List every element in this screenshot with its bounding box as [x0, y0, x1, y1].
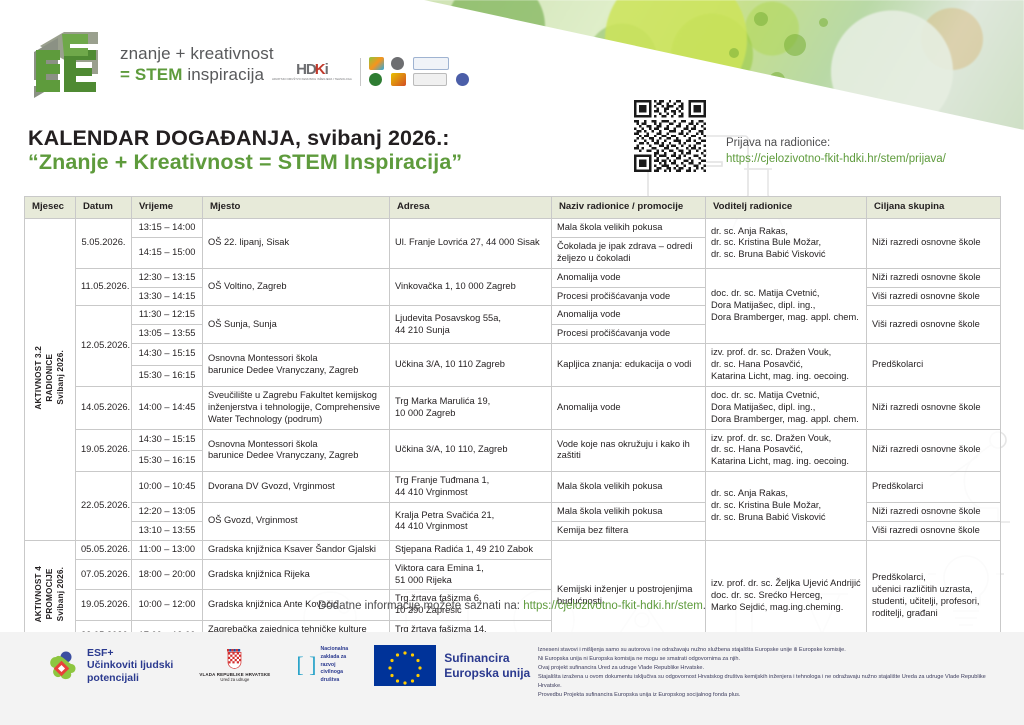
hdki-wordmark: HDKi	[272, 61, 352, 78]
cell-naziv: Kemija bez filtera	[552, 521, 706, 540]
cell-naziv: Mala škola velikih pokusa	[552, 219, 706, 238]
table-row: 19.05.2026.14:30 – 15:15Osnovna Montesso…	[25, 429, 1001, 450]
partner-logo-6	[413, 73, 447, 86]
cell-adresa: Učkina 3/A, 10 110, Zagreb	[390, 429, 552, 472]
stem-logo: znanje + kreativnost = STEM inspiracija	[28, 26, 274, 104]
cell-voditelj: doc. dr. sc. Matija Cvetnić, Dora Matija…	[706, 386, 867, 429]
esf-line-2: Učinkoviti ljudski	[87, 659, 173, 672]
cell-adresa: Trg Marka Marulića 19, 10 000 Zagreb	[390, 386, 552, 429]
cell-ciljana: Predškolarci	[867, 344, 1001, 387]
nacionalna-zaklada-logo: [ ] Nacionalna zaklada za razvoj civilno…	[296, 646, 348, 685]
more-info-url[interactable]: https://cjelozivotno-fkit-hdki.hr/stem	[523, 600, 703, 612]
cell-mjesto: Dvorana DV Gvozd, Vrginmost	[203, 472, 390, 503]
bubble-decor	[754, 12, 768, 26]
partner-logo-7	[456, 73, 469, 86]
eu-flag-icon	[374, 645, 436, 686]
qr-code[interactable]	[634, 100, 706, 172]
cell-vrijeme: 13:10 – 13:55	[132, 521, 203, 540]
col-header-mjesto: Mjesto	[203, 197, 390, 219]
cell-adresa: Viktora cara Emina 1, 51 000 Rijeka	[390, 559, 552, 590]
cell-naziv: Anomalija vode	[552, 306, 706, 325]
cell-naziv: Anomalija vode	[552, 268, 706, 287]
table-header-row: Mjesec Datum Vrijeme Mjesto Adresa Naziv…	[25, 197, 1001, 219]
cell-vrijeme: 12:20 – 13:05	[132, 503, 203, 522]
footer-disclaimer: Izneseni stavovi i mišljenja samo su aut…	[538, 646, 1008, 700]
cell-adresa: Stjepana Radića 1, 49 210 Zabok	[390, 540, 552, 559]
cell-datum: 11.05.2026.	[76, 268, 132, 306]
esf-line-3: potencijali	[87, 672, 173, 685]
hdki-subtitle: HRVATSKO DRUŠTVO KEMIJSKIH INŽENJERA I T…	[272, 78, 352, 82]
more-info-label: Dodatne informacije možete saznati na:	[318, 600, 523, 612]
poster-page: znanje + kreativnost = STEM inspiracija …	[0, 0, 1024, 725]
eu-logo: Sufinancira Europska unija	[374, 645, 530, 686]
cell-naziv: Procesi pročišćavanja vode	[552, 287, 706, 306]
table-body: AKTIVNOST 3.2 RADIONICE Svibanj 2026.5.0…	[25, 219, 1001, 652]
cell-naziv: Anomalija vode	[552, 386, 706, 429]
cell-adresa: Kralja Petra Svačića 21, 44 410 Vrginmos…	[390, 503, 552, 541]
col-header-adresa: Adresa	[390, 197, 552, 219]
cell-ciljana: Niži razredi osnovne škole	[867, 219, 1001, 269]
bubble-decor	[769, 72, 785, 88]
cell-mjesto: Osnovna Montessori škola barunice Dedee …	[203, 344, 390, 387]
partner-logos: HDKi HRVATSKO DRUŠTVO KEMIJSKIH INŽENJER…	[272, 57, 471, 86]
registration-url[interactable]: https://cjelozivotno-fkit-hdki.hr/stem/p…	[726, 151, 946, 167]
cell-naziv: Vode koje nas okružuju i kako ih zaštiti	[552, 429, 706, 472]
cell-vrijeme: 14:00 – 14:45	[132, 386, 203, 429]
table-row: 14:30 – 15:15Osnovna Montessori škola ba…	[25, 344, 1001, 365]
partner-logo-5	[391, 73, 406, 86]
cell-naziv: Kapljica znanja: edukacija o vodi	[552, 344, 706, 387]
esf-flower-icon	[46, 649, 80, 683]
footer-logos: ESF+ Učinkoviti ljudski potencijali	[46, 645, 530, 686]
col-header-vrijeme: Vrijeme	[132, 197, 203, 219]
col-header-voditelj: Voditelj radionice	[706, 197, 867, 219]
cell-mjesto: Gradska knjižnica Rijeka	[203, 559, 390, 590]
activity-group-text: AKTIVNOST 4 PROMOCIJE Svibanj 2026.	[33, 566, 66, 622]
cell-mjesto: OŠ Voltino, Zagreb	[203, 268, 390, 306]
bubble-decor	[819, 18, 828, 27]
disclaimer-line: Ni Europska unija ni Europska komisija n…	[538, 655, 1008, 664]
bubble-decor	[729, 48, 739, 58]
cell-mjesto: OŠ 22. lipanj, Sisak	[203, 219, 390, 269]
partner-logo-grid	[369, 57, 471, 86]
cell-mjesto: OŠ Sunja, Sunja	[203, 306, 390, 344]
table-header: Mjesec Datum Vrijeme Mjesto Adresa Naziv…	[25, 197, 1001, 219]
cell-ciljana: Niži razredi osnovne škole	[867, 268, 1001, 287]
more-info: Dodatne informacije možete saznati na: h…	[0, 600, 1024, 612]
cell-voditelj: doc. dr. sc. Matija Cvetnić, Dora Matija…	[706, 268, 867, 344]
cell-datum: 12.05.2026.	[76, 306, 132, 386]
more-info-suffix: .	[703, 600, 706, 612]
esf-logo: ESF+ Učinkoviti ljudski potencijali	[46, 647, 173, 685]
col-header-ciljana: Ciljana skupina	[867, 197, 1001, 219]
cell-vrijeme: 14:15 – 15:00	[132, 237, 203, 268]
cell-mjesto: Osnovna Montessori škola barunice Dedee …	[203, 429, 390, 472]
disclaimer-line: Izneseni stavovi i mišljenja samo su aut…	[538, 646, 1008, 655]
cell-naziv: Čokolada je ipak zdrava – odredi željezo…	[552, 237, 706, 268]
cell-vrijeme: 14:30 – 15:15	[132, 429, 203, 450]
cell-ciljana: Niži razredi osnovne škole	[867, 386, 1001, 429]
cell-adresa: Učkina 3/A, 10 110 Zagreb	[390, 344, 552, 387]
cell-ciljana: Niži razredi osnovne škole	[867, 503, 1001, 522]
cell-vrijeme: 13:05 – 13:55	[132, 325, 203, 344]
registration-info: Prijava na radionice: https://cjelozivot…	[726, 135, 946, 167]
cell-mjesto: Gradska knjižnica Ksaver Šandor Gjalski	[203, 540, 390, 559]
col-header-datum: Datum	[76, 197, 132, 219]
cell-adresa: Vinkovačka 1, 10 000 Zagreb	[390, 268, 552, 306]
registration-label: Prijava na radionice:	[726, 135, 946, 151]
eu-line-2: Europska unija	[444, 666, 530, 680]
table-row: 11.05.2026.12:30 – 13:15OŠ Voltino, Zagr…	[25, 268, 1001, 287]
esf-line-1: ESF+	[87, 647, 173, 660]
vlada-logo: VLADA REPUBLIKE HRVATSKE Ured za udruge	[199, 649, 270, 682]
cell-ciljana: Predškolarci	[867, 472, 1001, 503]
cell-vrijeme: 12:30 – 13:15	[132, 268, 203, 287]
brackets-icon: [ ]	[296, 654, 316, 676]
cell-vrijeme: 13:15 – 14:00	[132, 219, 203, 238]
partner-logo-spacer	[456, 57, 471, 70]
partner-logo-1	[369, 57, 384, 70]
lab-photo	[424, 0, 1024, 130]
vlada-line-2: Ured za udruge	[199, 677, 270, 682]
eu-text: Sufinancira Europska unija	[444, 651, 530, 680]
page-subtitle: “Znanje + Kreativnost = STEM Inspiracija…	[28, 150, 462, 175]
table-row: AKTIVNOST 3.2 RADIONICE Svibanj 2026.5.0…	[25, 219, 1001, 238]
eu-line-1: Sufinancira	[444, 651, 530, 665]
cell-naziv: Procesi pročišćavanja vode	[552, 325, 706, 344]
logo-equals: =	[120, 65, 130, 84]
cell-vrijeme: 14:30 – 15:15	[132, 344, 203, 365]
cell-datum: 07.05.2026.	[76, 559, 132, 590]
cell-mjesto: OŠ Gvozd, Vrginmost	[203, 503, 390, 541]
table-row: AKTIVNOST 4 PROMOCIJE Svibanj 2026.05.05…	[25, 540, 1001, 559]
partner-logo-4	[369, 73, 382, 86]
stem-cube-icon	[28, 26, 106, 104]
qr-code-icon[interactable]	[634, 100, 706, 172]
cell-ciljana: Viši razredi osnovne škole	[867, 521, 1001, 540]
cell-mjesto: Sveučilište u Zagrebu Fakultet kemijskog…	[203, 386, 390, 429]
cell-voditelj: izv. prof. dr. sc. Dražen Vouk, dr. sc. …	[706, 429, 867, 472]
table-row: 22.05.2026.10:00 – 10:45Dvorana DV Gvozd…	[25, 472, 1001, 503]
disclaimer-line: Ovaj projekt sufinancira Ured za udruge …	[538, 664, 1008, 673]
events-table: Mjesec Datum Vrijeme Mjesto Adresa Naziv…	[24, 196, 1001, 652]
cell-adresa: Ljudevita Posavskog 55a, 44 210 Sunja	[390, 306, 552, 344]
logo-divider	[360, 58, 361, 86]
cell-voditelj: izv. prof. dr. sc. Dražen Vouk, dr. sc. …	[706, 344, 867, 387]
logo-stem-word: STEM	[135, 65, 183, 84]
cell-vrijeme: 11:30 – 12:15	[132, 306, 203, 325]
cell-datum: 05.05.2026.	[76, 540, 132, 559]
croatia-coat-of-arms-icon	[226, 649, 243, 670]
table-row: 14.05.2026.14:00 – 14:45Sveučilište u Za…	[25, 386, 1001, 429]
col-header-naziv: Naziv radionice / promocije	[552, 197, 706, 219]
cell-ciljana: Viši razredi osnovne škole	[867, 306, 1001, 344]
hdki-logo: HDKi HRVATSKO DRUŠTVO KEMIJSKIH INŽENJER…	[272, 61, 352, 82]
cell-vrijeme: 11:00 – 13:00	[132, 540, 203, 559]
activity-group-label: AKTIVNOST 3.2 RADIONICE Svibanj 2026.	[25, 219, 76, 541]
cell-datum: 5.05.2026.	[76, 219, 132, 269]
cell-vrijeme: 13:30 – 14:15	[132, 287, 203, 306]
cell-adresa: Ul. Franje Lovrića 27, 44 000 Sisak	[390, 219, 552, 269]
cell-vrijeme: 18:00 – 20:00	[132, 559, 203, 590]
cell-vrijeme: 15:30 – 16:15	[132, 365, 203, 386]
cell-datum: 14.05.2026.	[76, 386, 132, 429]
logo-line-1: znanje + kreativnost	[120, 44, 274, 65]
disclaimer-line: Stajališta izražena u ovom dokumentu isk…	[538, 673, 1008, 691]
logo-inspiracija-word: inspiracija	[187, 65, 264, 84]
cell-ciljana: Niži razredi osnovne škole	[867, 429, 1001, 472]
cell-naziv: Mala škola velikih pokusa	[552, 472, 706, 503]
col-header-mjesec: Mjesec	[25, 197, 76, 219]
cell-vrijeme: 10:00 – 10:45	[132, 472, 203, 503]
partner-logo-2	[391, 57, 404, 70]
cell-voditelj: dr. sc. Anja Rakas, dr. sc. Kristina Bul…	[706, 219, 867, 269]
cell-datum: 19.05.2026.	[76, 429, 132, 472]
activity-group-text: AKTIVNOST 3.2 RADIONICE Svibanj 2026.	[33, 346, 66, 410]
cell-ciljana: Viši razredi osnovne škole	[867, 287, 1001, 306]
cell-voditelj: dr. sc. Anja Rakas, dr. sc. Kristina Bul…	[706, 472, 867, 541]
cell-naziv: Mala škola velikih pokusa	[552, 503, 706, 522]
disclaimer-line: Provedbu Projekta sufinancira Europska u…	[538, 691, 1008, 700]
header-photo-banner	[424, 0, 1024, 130]
partner-logo-3	[413, 57, 449, 70]
bubble-decor	[784, 34, 806, 56]
cell-vrijeme: 15:30 – 16:15	[132, 450, 203, 471]
nz-text: Nacionalna zaklada za razvoj civilnoga d…	[321, 646, 349, 685]
page-title: KALENDAR DOGAĐANJA, svibanj 2026.:	[28, 126, 450, 151]
logo-line-2: = STEM inspiracija	[120, 65, 274, 86]
cell-datum: 22.05.2026.	[76, 472, 132, 541]
cell-adresa: Trg Franje Tuđmana 1, 44 410 Vrginmost	[390, 472, 552, 503]
esf-text: ESF+ Učinkoviti ljudski potencijali	[87, 647, 173, 685]
